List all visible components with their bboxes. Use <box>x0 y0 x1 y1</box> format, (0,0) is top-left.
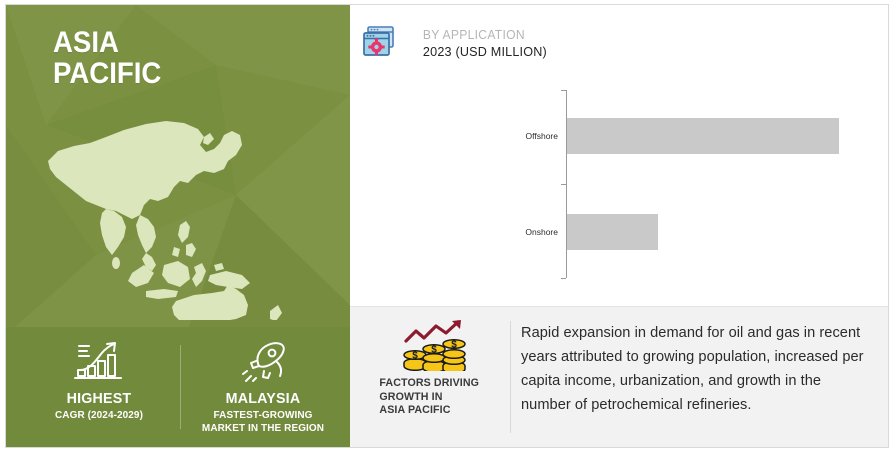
region-panel: ASIA PACIFIC <box>6 5 350 447</box>
bar-onshore <box>567 214 658 250</box>
axis-tick <box>561 90 566 91</box>
bar-offshore <box>567 118 839 154</box>
bar-chart-growth-arrow-icon <box>24 339 174 385</box>
factors-divider <box>510 321 511 433</box>
chart-kicker: BY APPLICATION <box>423 28 547 42</box>
bar-label-offshore: Offshore <box>526 131 558 141</box>
chart-header: BY APPLICATION 2023 (USD MILLION) <box>360 23 549 63</box>
stat-highest-cagr: HIGHEST CAGR (2024-2029) <box>24 339 174 422</box>
rocket-icon <box>188 339 338 385</box>
svg-text:$: $ <box>451 340 457 351</box>
infographic-card: ASIA PACIFIC <box>5 4 889 448</box>
axis-tick <box>561 184 566 185</box>
bar-chart: Offshore Onshore <box>350 85 888 300</box>
stat-title: HIGHEST <box>28 390 171 407</box>
stats-divider <box>180 345 181 429</box>
stat-title: MALAYSIA <box>192 390 335 407</box>
bar-label-onshore: Onshore <box>525 227 558 237</box>
factors-label-group: $ $ $ FACTORS DRIVING GROWTH IN ASIA PAC… <box>360 319 508 418</box>
factors-caption: FACTORS DRIVING GROWTH IN ASIA PACIFIC <box>360 377 504 418</box>
browser-windows-gear-icon <box>360 23 400 63</box>
asia-pacific-map <box>28 115 328 320</box>
stat-subtitle: FASTEST-GROWING MARKET IN THE REGION <box>192 409 335 434</box>
factors-panel: $ $ $ FACTORS DRIVING GROWTH IN ASIA PAC… <box>350 306 888 448</box>
region-stats-band: HIGHEST CAGR (2024-2029) <box>6 327 350 447</box>
page-title: ASIA PACIFIC <box>53 27 161 89</box>
chart-title: 2023 (USD MILLION) <box>423 44 547 59</box>
bar-row-offshore: Offshore <box>567 118 839 154</box>
stat-subtitle: CAGR (2024-2029) <box>28 409 171 422</box>
stat-malaysia-fastest-growing: MALAYSIA FASTEST-GROWING MARKET IN THE R… <box>188 339 338 434</box>
svg-text:$: $ <box>412 351 418 362</box>
factors-body-text: Rapid expansion in demand for oil and ga… <box>521 321 873 417</box>
bar-row-onshore: Onshore <box>567 214 658 250</box>
svg-text:$: $ <box>431 345 437 356</box>
coin-stacks-growth-arrow-icon: $ $ $ <box>360 319 508 371</box>
axis-tick <box>561 278 566 279</box>
